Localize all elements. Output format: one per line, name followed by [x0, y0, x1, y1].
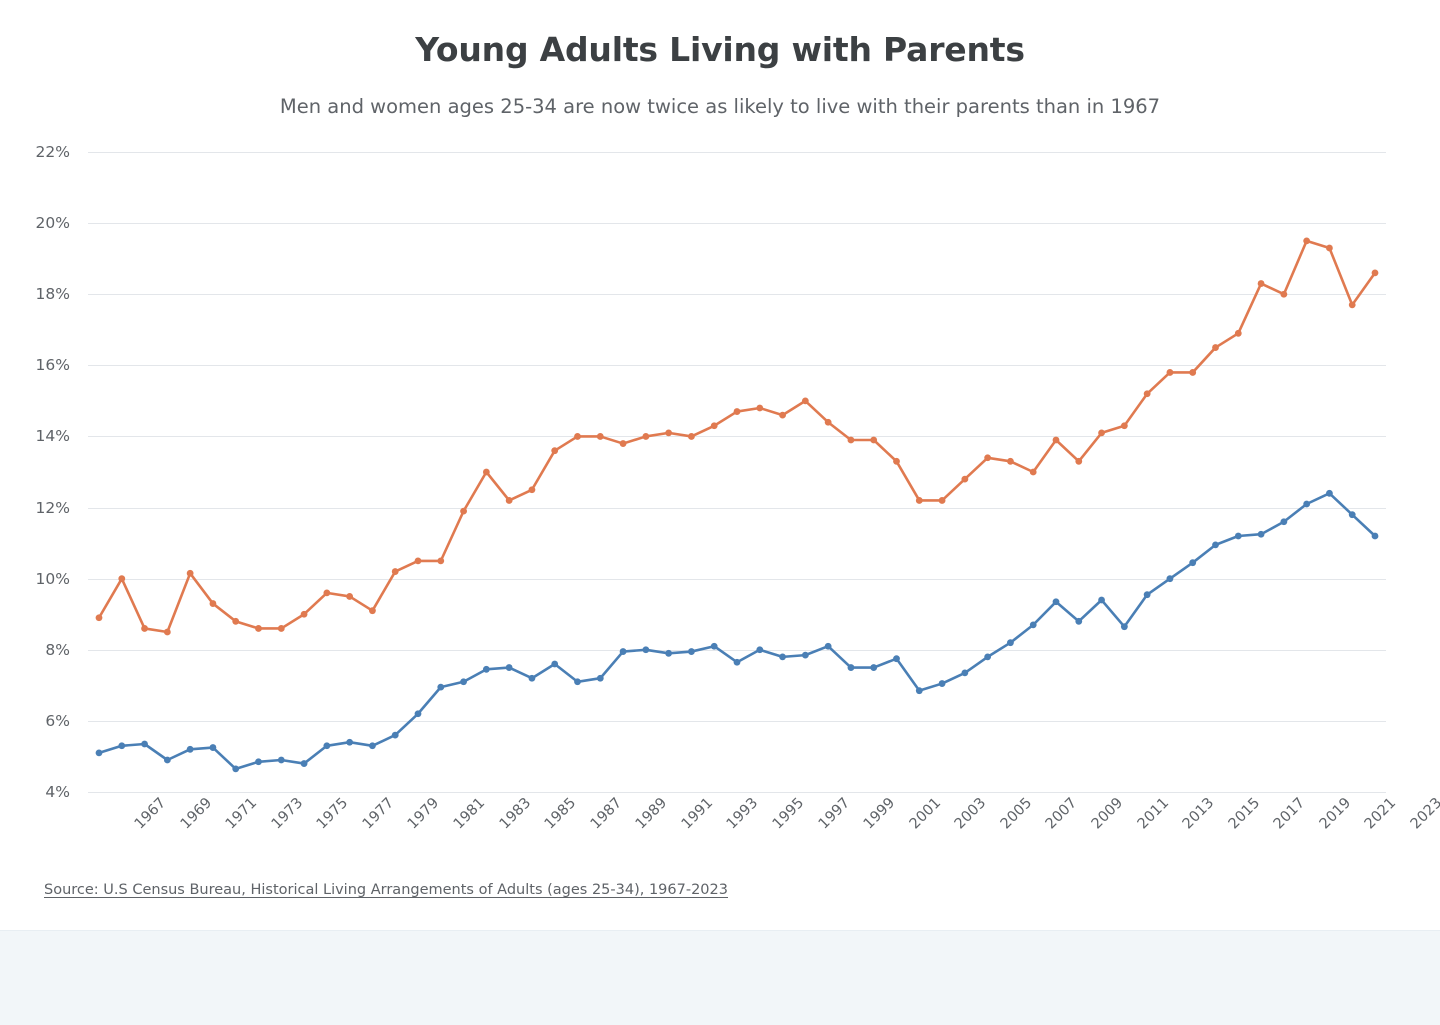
- data-point[interactable]: [711, 643, 718, 650]
- x-axis-tick-label: 2021: [1362, 795, 1399, 832]
- data-point[interactable]: [278, 625, 285, 632]
- data-point[interactable]: [870, 437, 877, 444]
- data-point[interactable]: [1030, 469, 1037, 476]
- data-point[interactable]: [642, 646, 649, 653]
- data-point[interactable]: [1212, 344, 1219, 351]
- data-point[interactable]: [551, 447, 558, 454]
- x-axis-tick-label: 2001: [907, 795, 944, 832]
- data-point[interactable]: [1235, 330, 1242, 337]
- data-point[interactable]: [734, 659, 741, 666]
- data-point[interactable]: [415, 710, 422, 717]
- data-point[interactable]: [916, 687, 923, 694]
- data-point[interactable]: [1372, 269, 1379, 276]
- data-point[interactable]: [210, 744, 217, 751]
- data-point[interactable]: [392, 568, 399, 575]
- x-axis-tick-label: 2011: [1134, 795, 1171, 832]
- data-point[interactable]: [597, 433, 604, 440]
- data-point[interactable]: [187, 570, 194, 577]
- data-point[interactable]: [255, 758, 262, 765]
- data-point[interactable]: [96, 749, 103, 756]
- x-axis-tick-label: 1975: [314, 795, 351, 832]
- y-axis-tick-label: 10%: [36, 570, 70, 588]
- y-axis-tick-label: 20%: [36, 214, 70, 232]
- source-note[interactable]: Source: U.S Census Bureau, Historical Li…: [44, 882, 728, 898]
- data-point[interactable]: [232, 765, 239, 772]
- data-point[interactable]: [620, 440, 627, 447]
- x-axis-tick-label: 1971: [223, 795, 260, 832]
- data-point[interactable]: [688, 648, 695, 655]
- data-point[interactable]: [1053, 437, 1060, 444]
- data-point[interactable]: [779, 653, 786, 660]
- x-axis-tick-label: 2009: [1089, 795, 1126, 832]
- chart-card: Young Adults Living with Parents Men and…: [0, 0, 1440, 930]
- data-point[interactable]: [232, 618, 239, 625]
- data-point[interactable]: [323, 742, 330, 749]
- data-point[interactable]: [301, 611, 308, 618]
- data-point[interactable]: [665, 429, 672, 436]
- data-point[interactable]: [437, 684, 444, 691]
- data-point[interactable]: [1349, 301, 1356, 308]
- data-point[interactable]: [141, 741, 148, 748]
- plot-area: [88, 152, 1386, 792]
- data-point[interactable]: [1144, 390, 1151, 397]
- data-point[interactable]: [756, 646, 763, 653]
- x-axis-tick-label: 1993: [724, 795, 761, 832]
- data-point[interactable]: [255, 625, 262, 632]
- data-point[interactable]: [118, 575, 125, 582]
- data-point[interactable]: [802, 652, 809, 659]
- data-point[interactable]: [483, 666, 490, 673]
- x-axis-tick-label: 2005: [998, 795, 1035, 832]
- data-point[interactable]: [1303, 237, 1310, 244]
- data-point[interactable]: [551, 661, 558, 668]
- data-point[interactable]: [187, 746, 194, 753]
- footer-band: TruckInfo.net: [0, 930, 1440, 1025]
- x-axis-tick-label: 2023: [1408, 795, 1440, 832]
- data-point[interactable]: [893, 655, 900, 662]
- x-axis-tick-label: 1989: [633, 795, 670, 832]
- data-point[interactable]: [1075, 618, 1082, 625]
- data-point[interactable]: [1372, 533, 1379, 540]
- data-point[interactable]: [1098, 597, 1105, 604]
- x-axis-tick-label: 1995: [770, 795, 807, 832]
- data-point[interactable]: [1235, 533, 1242, 540]
- data-point[interactable]: [415, 557, 422, 564]
- y-axis: 4%6%8%10%12%14%16%18%20%22%: [0, 152, 80, 792]
- data-point[interactable]: [802, 397, 809, 404]
- data-point[interactable]: [1167, 575, 1174, 582]
- data-point[interactable]: [369, 607, 376, 614]
- y-axis-tick-label: 8%: [45, 641, 70, 659]
- data-point[interactable]: [848, 437, 855, 444]
- data-point[interactable]: [369, 742, 376, 749]
- data-point[interactable]: [1075, 458, 1082, 465]
- data-point[interactable]: [1326, 245, 1333, 252]
- data-point[interactable]: [346, 593, 353, 600]
- data-point[interactable]: [711, 422, 718, 429]
- y-axis-tick-label: 18%: [36, 285, 70, 303]
- x-axis-tick-label: 1979: [405, 795, 442, 832]
- data-point[interactable]: [529, 675, 536, 682]
- data-point[interactable]: [529, 486, 536, 493]
- data-point[interactable]: [1007, 639, 1014, 646]
- data-point[interactable]: [916, 497, 923, 504]
- data-point[interactable]: [1144, 591, 1151, 598]
- data-point[interactable]: [483, 469, 490, 476]
- data-point[interactable]: [164, 757, 171, 764]
- data-point[interactable]: [1098, 429, 1105, 436]
- x-axis-tick-label: 1999: [861, 795, 898, 832]
- x-axis-tick-label: 1983: [496, 795, 533, 832]
- x-axis-tick-label: 2019: [1317, 795, 1354, 832]
- data-point[interactable]: [961, 669, 968, 676]
- data-point[interactable]: [642, 433, 649, 440]
- data-point[interactable]: [278, 757, 285, 764]
- data-point[interactable]: [1212, 541, 1219, 548]
- data-point[interactable]: [164, 629, 171, 636]
- y-axis-tick-label: 12%: [36, 499, 70, 517]
- x-axis-tick-label: 2003: [952, 795, 989, 832]
- data-point[interactable]: [1303, 501, 1310, 508]
- x-axis-tick-label: 2015: [1226, 795, 1263, 832]
- data-point[interactable]: [620, 648, 627, 655]
- data-point[interactable]: [756, 405, 763, 412]
- x-axis-tick-label: 1981: [451, 795, 488, 832]
- data-point[interactable]: [460, 508, 467, 515]
- data-point[interactable]: [210, 600, 217, 607]
- x-axis-tick-label: 1973: [269, 795, 306, 832]
- data-point[interactable]: [1189, 369, 1196, 376]
- data-point[interactable]: [1280, 518, 1287, 525]
- data-point[interactable]: [1280, 291, 1287, 298]
- x-axis-tick-label: 2017: [1271, 795, 1308, 832]
- data-point[interactable]: [323, 589, 330, 596]
- y-axis-tick-label: 6%: [45, 712, 70, 730]
- data-point[interactable]: [734, 408, 741, 415]
- data-point[interactable]: [506, 664, 513, 671]
- data-point[interactable]: [96, 614, 103, 621]
- data-point[interactable]: [118, 742, 125, 749]
- data-point[interactable]: [688, 433, 695, 440]
- data-point[interactable]: [1167, 369, 1174, 376]
- page-title: Young Adults Living with Parents: [0, 30, 1440, 69]
- data-point[interactable]: [984, 653, 991, 660]
- x-axis-tick-label: 1969: [177, 795, 214, 832]
- data-point[interactable]: [506, 497, 513, 504]
- data-point[interactable]: [1258, 531, 1265, 538]
- series-line-men: [99, 241, 1375, 632]
- data-point[interactable]: [1349, 511, 1356, 518]
- line-chart-svg: [88, 152, 1386, 792]
- data-point[interactable]: [460, 678, 467, 685]
- data-point[interactable]: [939, 680, 946, 687]
- x-axis-tick-label: 1987: [588, 795, 625, 832]
- data-point[interactable]: [597, 675, 604, 682]
- data-point[interactable]: [574, 678, 581, 685]
- data-point[interactable]: [1189, 559, 1196, 566]
- data-point[interactable]: [848, 664, 855, 671]
- data-point[interactable]: [1326, 490, 1333, 497]
- x-axis-tick-label: 1997: [815, 795, 852, 832]
- x-axis-tick-label: 1985: [542, 795, 579, 832]
- data-point[interactable]: [301, 760, 308, 767]
- data-point[interactable]: [1121, 422, 1128, 429]
- data-point[interactable]: [961, 476, 968, 483]
- y-axis-tick-label: 4%: [45, 783, 70, 801]
- data-point[interactable]: [1053, 598, 1060, 605]
- data-point[interactable]: [1258, 280, 1265, 287]
- data-point[interactable]: [392, 732, 399, 739]
- data-point[interactable]: [893, 458, 900, 465]
- x-axis-tick-label: 2007: [1043, 795, 1080, 832]
- y-axis-tick-label: 22%: [36, 143, 70, 161]
- y-axis-tick-label: 14%: [36, 427, 70, 445]
- data-point[interactable]: [141, 625, 148, 632]
- data-point[interactable]: [1030, 621, 1037, 628]
- gridline: [88, 792, 1386, 793]
- x-axis: 1967196919711973197519771979198119831985…: [88, 795, 1386, 865]
- data-point[interactable]: [574, 433, 581, 440]
- y-axis-tick-label: 16%: [36, 356, 70, 374]
- chart-subtitle: Men and women ages 25-34 are now twice a…: [0, 95, 1440, 118]
- data-point[interactable]: [346, 739, 353, 746]
- data-point[interactable]: [1007, 458, 1014, 465]
- chart-page: Young Adults Living with Parents Men and…: [0, 0, 1440, 1025]
- x-axis-tick-label: 2013: [1180, 795, 1217, 832]
- data-point[interactable]: [825, 643, 832, 650]
- data-point[interactable]: [870, 664, 877, 671]
- series-line-women: [99, 493, 1375, 769]
- data-point[interactable]: [1121, 623, 1128, 630]
- data-point[interactable]: [825, 419, 832, 426]
- data-point[interactable]: [437, 557, 444, 564]
- data-point[interactable]: [779, 412, 786, 419]
- data-point[interactable]: [939, 497, 946, 504]
- x-axis-tick-label: 1967: [132, 795, 169, 832]
- data-point[interactable]: [984, 454, 991, 461]
- x-axis-tick-label: 1991: [679, 795, 716, 832]
- data-point[interactable]: [665, 650, 672, 657]
- x-axis-tick-label: 1977: [360, 795, 397, 832]
